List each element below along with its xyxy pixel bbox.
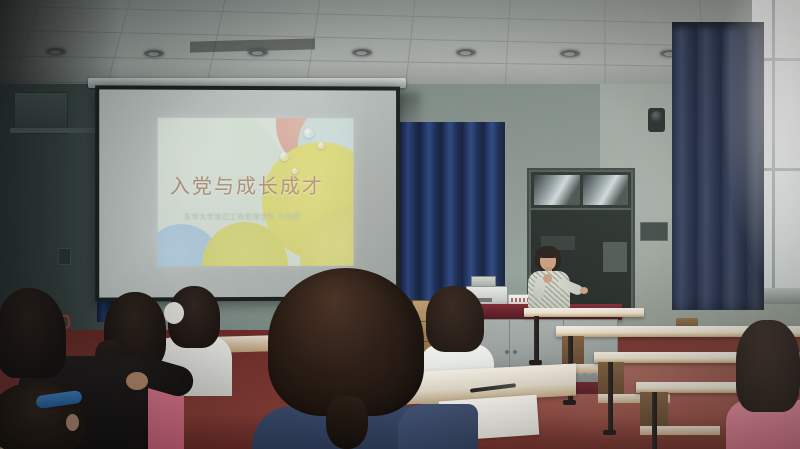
water-droplet-icon xyxy=(280,152,289,161)
water-droplet-icon xyxy=(304,128,314,138)
student-hair xyxy=(736,320,800,412)
presenter-hand-left xyxy=(543,274,552,283)
presenter-hand-right xyxy=(580,287,588,294)
student-hand xyxy=(126,372,148,390)
student-ponytail xyxy=(326,396,368,449)
slide-subtitle: 东华大学旭日工商管理学院 刘晓霞 xyxy=(184,212,301,222)
presenter xyxy=(521,246,583,308)
presentation-slide: 入党与成长成才 东华大学旭日工商管理学院 刘晓霞 xyxy=(158,118,354,267)
student-hair xyxy=(268,268,424,416)
student-shoulder xyxy=(398,404,478,449)
transom-pane xyxy=(534,175,580,205)
security-camera-icon xyxy=(648,108,665,132)
door-sign xyxy=(603,242,627,272)
wall-outlet xyxy=(58,248,71,265)
wall-plate xyxy=(640,222,668,241)
ceiling-downlight xyxy=(248,49,268,56)
ceiling-downlight xyxy=(144,50,164,57)
classroom-photo: 入党与成长成才 东华大学旭日工商管理学院 刘晓霞 xyxy=(0,0,800,449)
transom-pane xyxy=(583,175,629,205)
student-hair-accessory xyxy=(164,302,184,324)
water-droplet-icon xyxy=(318,142,325,149)
window-curtain xyxy=(672,22,764,310)
wall-conduit xyxy=(10,128,102,133)
ceiling-downlight xyxy=(560,50,580,57)
student-desk xyxy=(524,308,644,364)
slide-title: 入党与成长成才 xyxy=(170,170,324,199)
door-transom-window xyxy=(531,172,631,208)
presenter-hair-front xyxy=(536,248,560,258)
student-ear xyxy=(66,414,79,431)
ceiling-downlight xyxy=(456,49,476,56)
ceiling-downlight xyxy=(352,49,372,56)
student-hair xyxy=(426,286,484,352)
screen-surface: 入党与成长成才 东华大学旭日工商管理学院 刘晓霞 xyxy=(99,89,396,297)
